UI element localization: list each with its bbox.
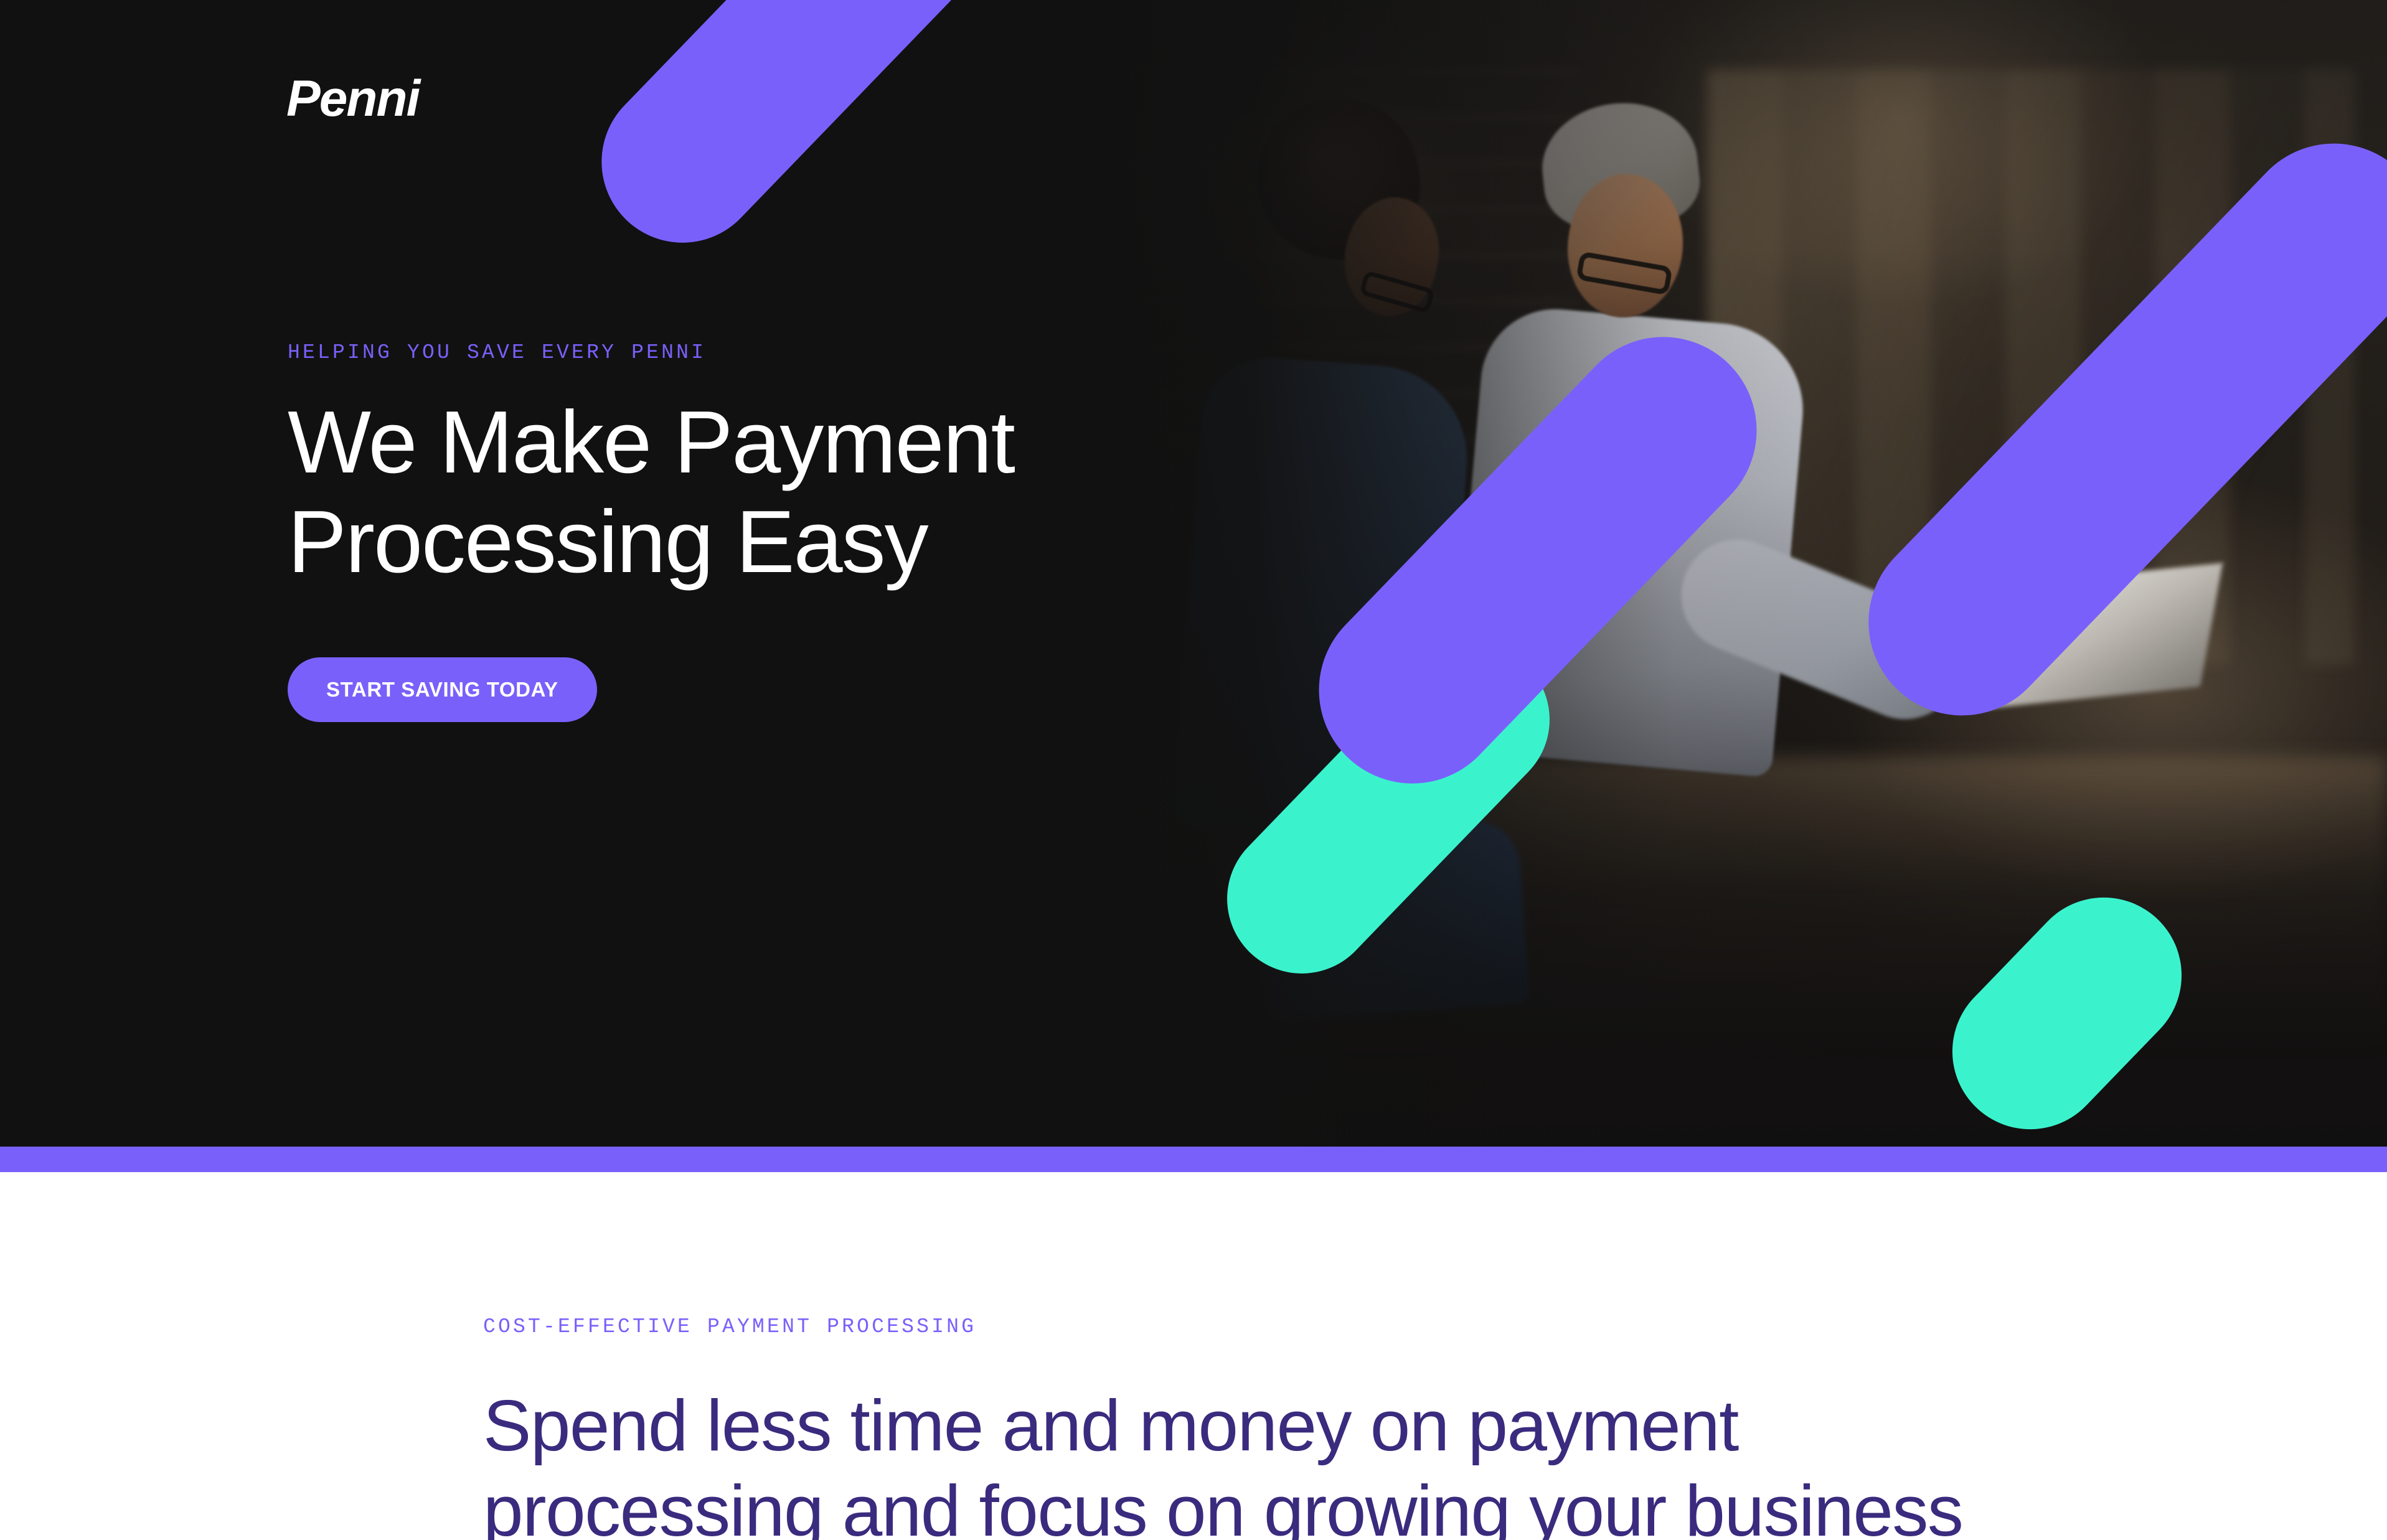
cost-effective-headline-line-1: Spend less time and money on payment: [483, 1385, 1738, 1466]
landing-page: Penni HELPING YOU SAVE EVERY PENNI We Ma…: [0, 0, 2387, 1540]
brand-logo[interactable]: Penni: [286, 73, 419, 124]
start-saving-today-button[interactable]: START SAVING TODAY: [288, 657, 597, 722]
hero-headline-line-1: We Make Payment: [288, 393, 1014, 492]
hero-section: Penni HELPING YOU SAVE EVERY PENNI We Ma…: [0, 0, 2387, 1147]
hero-headline-line-2: Processing Easy: [288, 492, 928, 591]
cost-effective-eyebrow: COST-EFFECTIVE PAYMENT PROCESSING: [483, 1317, 2040, 1337]
cost-effective-headline-line-2: processing and focus on growing your bus…: [483, 1470, 1962, 1540]
hero-eyebrow: HELPING YOU SAVE EVERY PENNI: [288, 342, 1346, 363]
cost-effective-headline: Spend less time and money on payment pro…: [483, 1383, 2040, 1540]
section-divider-band: [0, 1147, 2387, 1172]
cost-effective-copy-block: COST-EFFECTIVE PAYMENT PROCESSING Spend …: [483, 1317, 2040, 1540]
cost-effective-section: COST-EFFECTIVE PAYMENT PROCESSING Spend …: [0, 1172, 2387, 1540]
hero-headline: We Make Payment Processing Easy: [288, 393, 1346, 593]
hero-copy-block: HELPING YOU SAVE EVERY PENNI We Make Pay…: [288, 342, 1346, 722]
